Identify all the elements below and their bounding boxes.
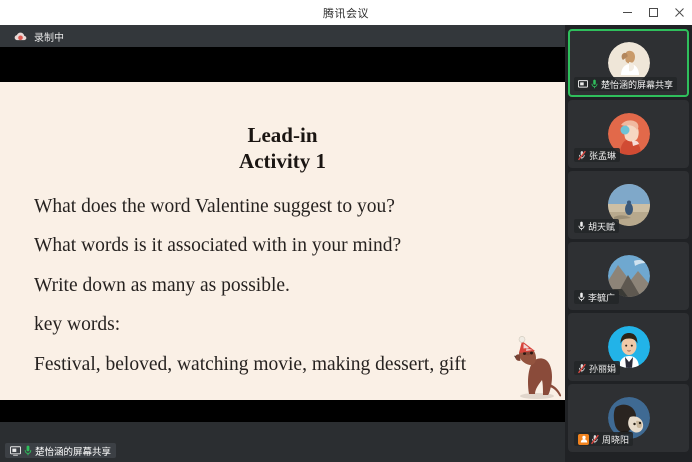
participant-tile[interactable]: 张孟琳 bbox=[568, 100, 689, 168]
participant-name-badge: 李毓广 bbox=[574, 290, 619, 304]
bottom-status-bar: 楚怡涵的屏幕共享 bbox=[0, 440, 565, 462]
participant-name-badge: 张孟琳 bbox=[574, 148, 620, 162]
screen-share-status-label: 楚怡涵的屏幕共享 bbox=[35, 444, 111, 458]
dog-with-party-hat-illustration bbox=[505, 332, 565, 400]
participant-name-badge: 楚怡涵的屏幕共享 bbox=[574, 77, 677, 91]
participant-name: 李毓广 bbox=[588, 291, 615, 304]
mic-on-icon bbox=[24, 445, 32, 456]
slide-title-line2: Activity 1 bbox=[0, 148, 565, 174]
maximize-button[interactable] bbox=[640, 0, 666, 25]
window-controls bbox=[614, 0, 692, 25]
participant-name-badge: 周晓阳 bbox=[574, 432, 633, 446]
slide-title-line1: Lead-in bbox=[247, 123, 317, 147]
screen-share-icon bbox=[10, 446, 21, 456]
window-title: 腾讯会议 bbox=[323, 5, 369, 21]
participant-tile[interactable]: 周晓阳 bbox=[568, 384, 689, 452]
presentation-slide: Lead-in Activity 1 What does the word Va… bbox=[0, 82, 565, 400]
slide-line: Festival, beloved, watching movie, makin… bbox=[34, 355, 565, 375]
slide-line: What words is it associated with in your… bbox=[34, 236, 565, 256]
mic-muted-icon bbox=[578, 363, 586, 374]
mic-on-icon bbox=[578, 221, 585, 231]
participant-tile[interactable]: 孙丽娟 bbox=[568, 313, 689, 381]
screen-share-status-badge[interactable]: 楚怡涵的屏幕共享 bbox=[5, 443, 116, 458]
cloud-record-icon bbox=[14, 31, 27, 42]
slide-line: What does the word Valentine suggest to … bbox=[34, 197, 565, 217]
mic-muted-icon bbox=[578, 150, 586, 161]
letterbox-top bbox=[0, 47, 565, 82]
recording-bar: 录制中 bbox=[0, 25, 565, 47]
mic-on-icon bbox=[578, 292, 585, 302]
mic-muted-icon bbox=[591, 434, 599, 445]
slide-line: Write down as many as possible. bbox=[34, 276, 565, 296]
participant-name-badge: 孙丽娟 bbox=[574, 361, 620, 375]
shared-screen-area: 录制中 Lead-in Activity 1 What does the wor… bbox=[0, 25, 565, 440]
participant-name: 张孟琳 bbox=[589, 149, 616, 162]
host-icon bbox=[578, 434, 589, 445]
participant-tile[interactable]: 李毓广 bbox=[568, 242, 689, 310]
participant-tile[interactable]: 胡天赋 bbox=[568, 171, 689, 239]
slide-body: What does the word Valentine suggest to … bbox=[0, 175, 565, 375]
participant-name-badge: 胡天赋 bbox=[574, 219, 619, 233]
title-bar: 腾讯会议 bbox=[0, 0, 692, 25]
mic-on-icon bbox=[591, 79, 598, 89]
letterbox-bottom bbox=[0, 400, 565, 422]
recording-label: 录制中 bbox=[34, 29, 64, 44]
screen-share-icon bbox=[578, 80, 588, 89]
participant-name: 楚怡涵的屏幕共享 bbox=[601, 78, 673, 91]
tencent-meeting-window: 腾讯会议 录制中 Lead-in Activity 1 bbox=[0, 0, 692, 462]
participant-tile[interactable]: 楚怡涵的屏幕共享 bbox=[568, 29, 689, 97]
participant-name: 胡天赋 bbox=[588, 220, 615, 233]
slide-line: key words: bbox=[34, 315, 565, 335]
participant-rail[interactable]: 楚怡涵的屏幕共享 bbox=[565, 25, 692, 462]
participant-name: 孙丽娟 bbox=[589, 362, 616, 375]
minimize-button[interactable] bbox=[614, 0, 640, 25]
participant-name: 周晓阳 bbox=[602, 433, 629, 446]
slide-title: Lead-in Activity 1 bbox=[0, 82, 565, 175]
close-button[interactable] bbox=[666, 0, 692, 25]
